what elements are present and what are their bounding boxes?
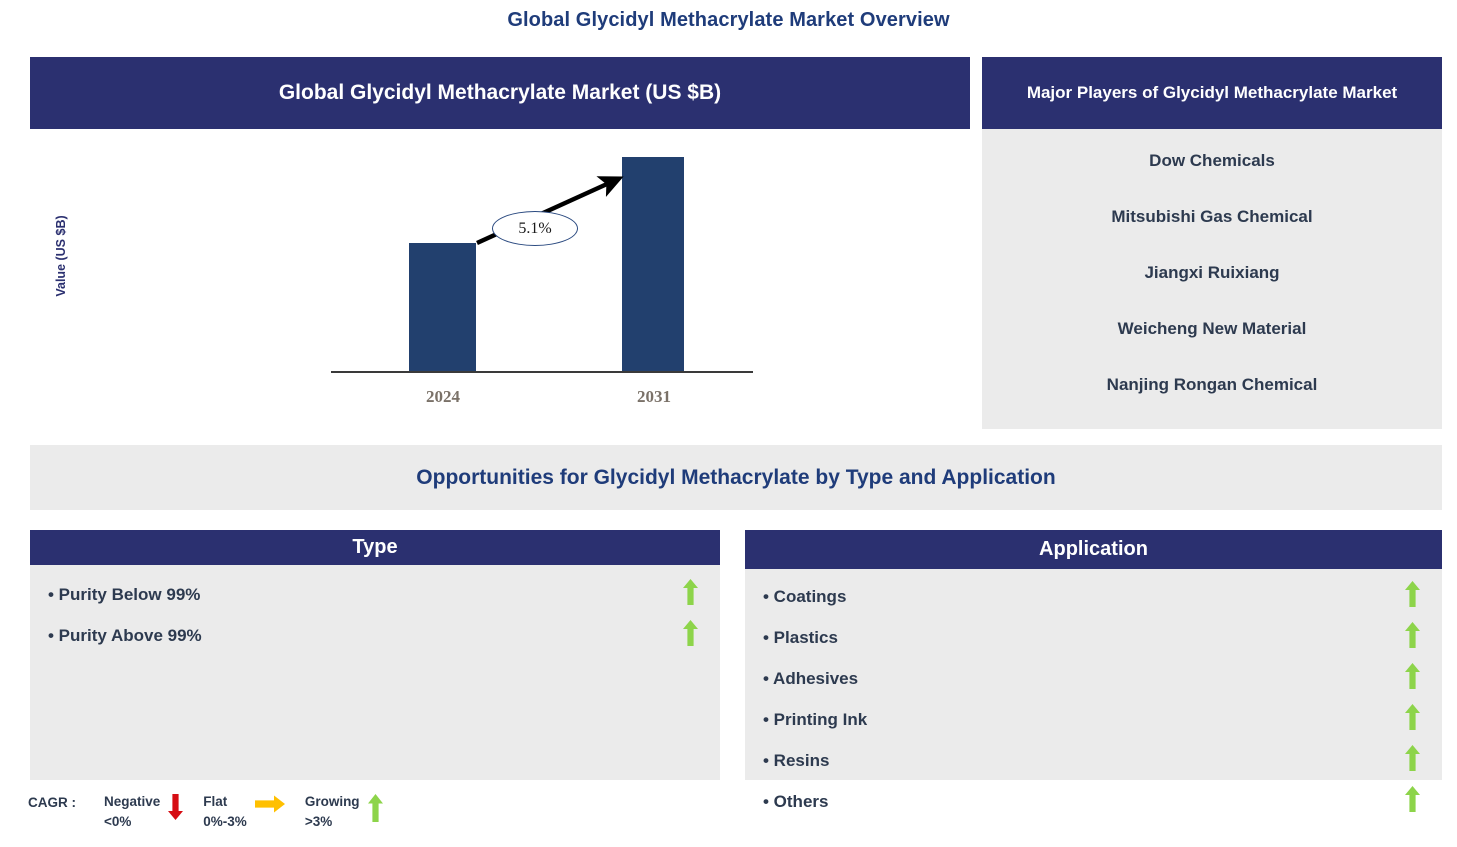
- bar-2024: [409, 243, 476, 371]
- opportunities-banner: Opportunities for Glycidyl Methacrylate …: [30, 445, 1442, 510]
- legend-entry-flat: Flat 0%-3%: [203, 792, 293, 833]
- list-item: Jiangxi Ruixiang: [982, 263, 1442, 283]
- application-item-label: • Adhesives: [763, 669, 858, 689]
- legend-flat-text: Flat 0%-3%: [203, 792, 247, 833]
- chart-body: Value (US $B) 5.1% 2024 2031 Source : Lu…: [30, 129, 970, 437]
- type-panel-header-label: Type: [352, 536, 397, 559]
- x-tick-2024: 2024: [391, 387, 495, 407]
- list-item: • Plastics: [763, 622, 1420, 653]
- arrow-up-icon: [1405, 581, 1420, 612]
- type-panel-header: Type: [30, 530, 720, 565]
- arrow-down-icon: [168, 794, 183, 825]
- legend-entry-growing: Growing >3%: [305, 792, 391, 833]
- market-chart-panel: Global Glycidyl Methacrylate Market (US …: [30, 57, 970, 437]
- list-item: • Purity Above 99%: [48, 620, 698, 651]
- arrow-up-icon: [1405, 745, 1420, 776]
- major-players-header-label: Major Players of Glycidyl Methacrylate M…: [1027, 81, 1397, 106]
- arrow-up-icon: [1405, 663, 1420, 694]
- legend-negative-range: <0%: [104, 812, 160, 832]
- cagr-badge: 5.1%: [492, 211, 578, 246]
- bar-2031: [622, 157, 684, 371]
- application-item-label: • Coatings: [763, 587, 846, 607]
- x-tick-2031: 2031: [605, 387, 703, 407]
- list-item: Dow Chemicals: [982, 151, 1442, 171]
- type-list: • Purity Below 99% • Purity Above 99%: [30, 565, 720, 661]
- type-item-label: • Purity Above 99%: [48, 626, 202, 646]
- application-panel-header-label: Application: [1039, 538, 1148, 561]
- cagr-badge-value: 5.1%: [518, 220, 551, 238]
- arrow-up-icon: [1405, 786, 1420, 817]
- list-item: Weicheng New Material: [982, 319, 1442, 339]
- page-title: Global Glycidyl Methacrylate Market Over…: [0, 9, 1457, 32]
- type-item-label: • Purity Below 99%: [48, 585, 200, 605]
- legend-growing-text: Growing >3%: [305, 792, 360, 833]
- legend-growing-name: Growing: [305, 792, 360, 812]
- arrow-up-icon: [1405, 704, 1420, 735]
- legend-entry-negative: Negative <0%: [104, 792, 191, 833]
- cagr-legend-title: CAGR :: [28, 792, 76, 810]
- legend-growing-range: >3%: [305, 812, 360, 832]
- x-axis-line: [331, 371, 753, 373]
- list-item: Nanjing Rongan Chemical: [982, 375, 1442, 395]
- application-panel: Application • Coatings • Plastics • Adhe…: [745, 530, 1442, 780]
- list-item: • Coatings: [763, 581, 1420, 612]
- legend-negative-text: Negative <0%: [104, 792, 160, 833]
- chart-panel-header-label: Global Glycidyl Methacrylate Market (US …: [279, 81, 721, 105]
- arrow-up-icon: [683, 579, 698, 610]
- y-axis-label: Value (US $B): [54, 196, 68, 316]
- list-item: • Printing Ink: [763, 704, 1420, 735]
- application-list: • Coatings • Plastics • Adhesives • Prin…: [745, 569, 1442, 827]
- type-panel: Type • Purity Below 99% • Purity Above 9…: [30, 530, 720, 780]
- legend-negative-name: Negative: [104, 792, 160, 812]
- chart-panel-header: Global Glycidyl Methacrylate Market (US …: [30, 57, 970, 129]
- arrow-up-icon: [683, 620, 698, 651]
- list-item: • Adhesives: [763, 663, 1420, 694]
- arrow-right-icon: [255, 794, 285, 819]
- list-item: • Resins: [763, 745, 1420, 776]
- list-item: • Others: [763, 786, 1420, 817]
- list-item: • Purity Below 99%: [48, 579, 698, 610]
- list-item: Mitsubishi Gas Chemical: [982, 207, 1442, 227]
- major-players-panel: Major Players of Glycidyl Methacrylate M…: [982, 57, 1442, 429]
- opportunities-banner-label: Opportunities for Glycidyl Methacrylate …: [416, 466, 1055, 490]
- application-item-label: • Resins: [763, 751, 829, 771]
- legend-flat-name: Flat: [203, 792, 247, 812]
- major-players-list: Dow Chemicals Mitsubishi Gas Chemical Ji…: [982, 129, 1442, 429]
- major-players-header: Major Players of Glycidyl Methacrylate M…: [982, 57, 1442, 129]
- legend-flat-range: 0%-3%: [203, 812, 247, 832]
- arrow-up-icon: [1405, 622, 1420, 653]
- application-item-label: • Others: [763, 792, 828, 812]
- application-panel-header: Application: [745, 530, 1442, 569]
- cagr-legend: CAGR : Negative <0% Flat 0%-3% Growing >…: [28, 792, 403, 833]
- arrow-up-icon: [368, 794, 383, 827]
- application-item-label: • Printing Ink: [763, 710, 867, 730]
- bar-chart-plot: 5.1% 2024 2031: [305, 167, 735, 427]
- application-item-label: • Plastics: [763, 628, 838, 648]
